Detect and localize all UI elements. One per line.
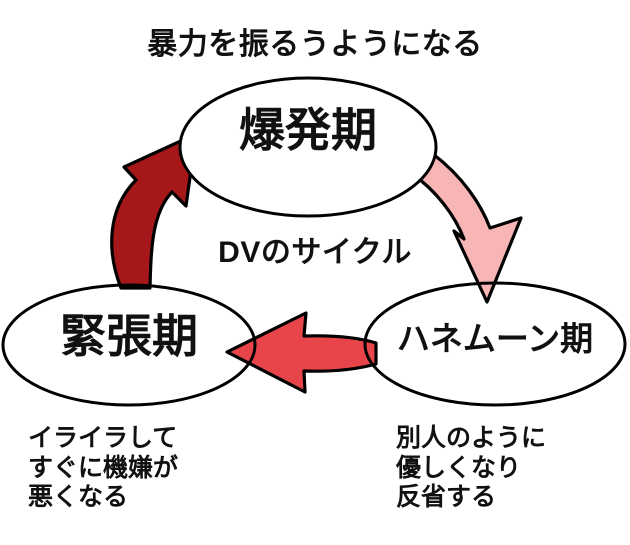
node-label-explosion: 爆発期 [180,107,436,153]
dv-cycle-diagram: 暴力を振るうようになる DVのサイクル 爆発期 緊張期 ハネムーン期 イライラし… [0,0,630,545]
caption-explosion: 暴力を振るうようになる [0,30,630,60]
diagram-center-title: DVのサイクル [0,238,630,268]
arrow-explosion-to-honeymoon [411,154,521,302]
node-label-honeymoon: ハネムーン期 [366,322,624,355]
node-label-tension: 緊張期 [3,313,255,359]
caption-tension: イライラして すぐに機嫌が 悪くなる [28,424,268,513]
caption-honeymoon: 別人のように 優しくなり 反省する [396,424,626,513]
